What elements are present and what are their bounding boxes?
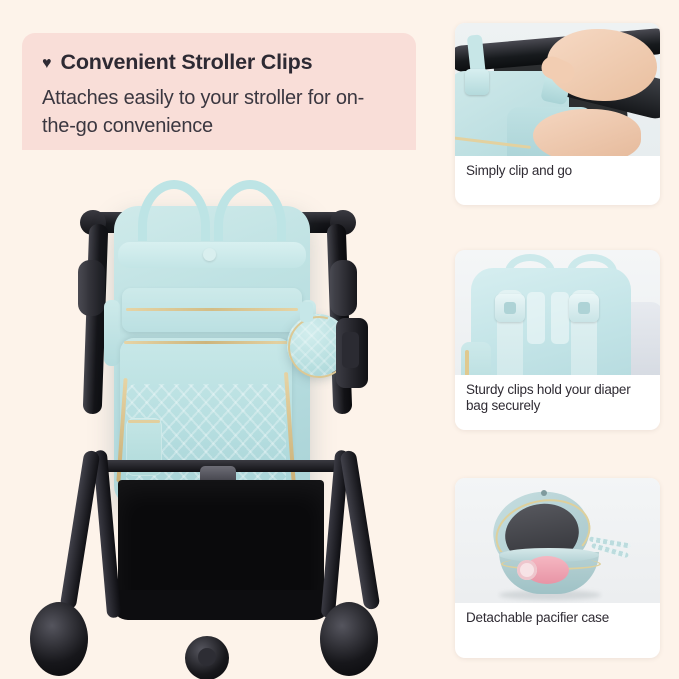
thumb3-lid-knob [541, 490, 547, 496]
stroller-clip-right-slot [342, 332, 359, 368]
feature-card-pacifier-case: Detachable pacifier case [455, 478, 660, 658]
stroller-basket-lip [112, 590, 330, 620]
thumb1-hand-lower [533, 109, 641, 156]
stroller-joint-right [330, 260, 357, 316]
thumb2-mesh-panel-left [527, 292, 545, 344]
thumb2-mesh-panel-right [551, 292, 569, 344]
heart-icon: ♥ [42, 56, 52, 72]
thumbnail-caption-clip-and-go: Simply clip and go [455, 156, 660, 187]
thumb2-clip-left-slot [504, 302, 516, 314]
feature-callout-heading: ♥ Convenient Stroller Clips [42, 50, 396, 75]
stroller-wheel-right [320, 602, 378, 676]
bag-side-pocket-zipper [128, 420, 160, 423]
infographic-page: ♥ Convenient Stroller Clips Attaches eas… [0, 0, 679, 679]
feature-subtitle: Attaches easily to your stroller for on-… [42, 84, 396, 141]
bag-snap-button [203, 248, 216, 261]
feature-card-clip-and-go: Simply clip and go [455, 23, 660, 205]
thumb2-clip-right-slot [578, 302, 590, 314]
thumbnail-photo-pacifier-case [455, 478, 660, 603]
bag-strap-left [104, 300, 120, 366]
thumbnail-caption-pacifier-case: Detachable pacifier case [455, 603, 660, 634]
stroller-joint-left [78, 260, 105, 316]
bag-upper-zipper [126, 308, 298, 311]
feature-thumbnail-column: Simply clip and go Sturdy clips ho [455, 0, 660, 679]
thumbnail-photo-sturdy-clips [455, 250, 660, 375]
stroller-wheel-left [30, 602, 88, 676]
pacifier-pouch-strap [300, 302, 313, 322]
hero-product-photo [0, 150, 440, 679]
thumbnail-photo-clip-and-go [455, 23, 660, 156]
thumb2-gold-zipper [465, 350, 469, 375]
thumbnail-caption-sturdy-clips: Sturdy clips hold your diaper bag secure… [455, 375, 660, 423]
feature-callout: ♥ Convenient Stroller Clips Attaches eas… [22, 33, 416, 162]
thumb1-clip-attached [465, 69, 489, 95]
thumb3-pacifier-ring [517, 560, 537, 580]
stroller-wheel-hub [198, 648, 216, 666]
feature-card-sturdy-clips: Sturdy clips hold your diaper bag secure… [455, 250, 660, 430]
feature-title: Convenient Stroller Clips [61, 50, 313, 75]
bag-front-zipper [124, 341, 288, 344]
